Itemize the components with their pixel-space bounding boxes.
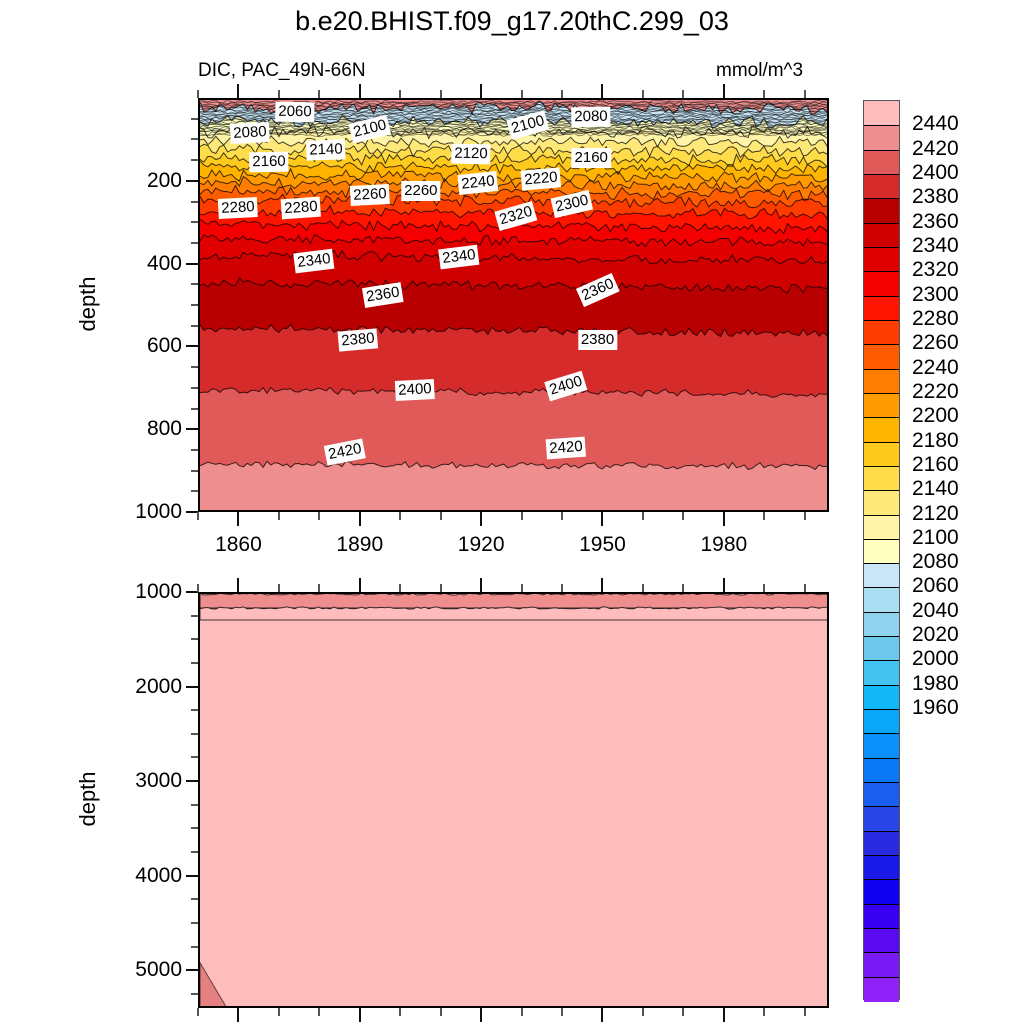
colorbar-divider	[864, 952, 899, 953]
x-axis-tick-lower-top	[480, 578, 482, 592]
x-axis-tick-upper	[480, 512, 482, 526]
colorbar-divider	[864, 198, 899, 199]
colorbar-divider	[864, 466, 899, 467]
x-axis-minor-tick-upper	[318, 512, 320, 520]
x-axis-tick-lower	[723, 1008, 725, 1022]
x-axis-minor-tick-lower-top	[197, 584, 199, 592]
upper-contour-fill	[200, 100, 827, 510]
x-axis-minor-tick-upper	[278, 512, 280, 520]
x-axis-minor-tick-lower	[278, 1008, 280, 1016]
x-axis-minor-tick-upper	[440, 512, 442, 520]
colorbar-divider	[864, 490, 899, 491]
colorbar-cell	[864, 393, 899, 418]
y-axis-tick-upper	[186, 263, 198, 265]
y-axis-tick-label-upper: 400	[90, 253, 182, 274]
contour-label: 2240	[457, 171, 498, 195]
y-axis-minor-tick-lower	[191, 733, 198, 735]
y-axis-minor-tick-upper	[191, 325, 198, 327]
x-axis-tick-lower-top	[601, 578, 603, 592]
x-axis-minor-tick-upper	[197, 512, 199, 520]
colorbar-divider	[864, 977, 899, 978]
y-axis-tick-upper	[186, 428, 198, 430]
y-axis-minor-tick-upper	[191, 221, 198, 223]
colorbar-cell	[864, 198, 899, 223]
y-axis-minor-tick-upper	[191, 138, 198, 140]
x-axis-minor-tick-lower-top	[642, 584, 644, 592]
colorbar-tick-label: 2200	[912, 405, 959, 426]
colorbar-tick-label: 1960	[912, 697, 959, 718]
y-axis-tick-lower	[186, 780, 198, 782]
colorbar-tick-label: 2220	[912, 381, 959, 402]
colorbar-divider	[864, 879, 899, 880]
x-axis-minor-tick-upper-top	[521, 90, 523, 98]
x-axis-minor-tick-upper	[763, 512, 765, 520]
y-axis-tick-upper	[186, 345, 198, 347]
colorbar-cell	[864, 612, 899, 637]
x-axis-tick-upper-top	[359, 84, 361, 98]
colorbar-tick-label: 1980	[912, 673, 959, 694]
colorbar-tick-label: 2280	[912, 308, 959, 329]
y-axis-tick-label-lower: 5000	[90, 959, 182, 980]
x-axis-minor-tick-upper-top	[561, 90, 563, 98]
y-axis-minor-tick-upper	[191, 159, 198, 161]
colorbar-divider	[864, 271, 899, 272]
colorbar-divider	[864, 539, 899, 540]
contour-label: 2260	[401, 181, 440, 201]
x-axis-minor-tick-upper	[804, 512, 806, 520]
colorbar-tick-label: 2420	[912, 138, 959, 159]
y-axis-tick-label-lower: 3000	[90, 770, 182, 791]
colorbar-cell	[864, 685, 899, 710]
y-axis-minor-tick-upper	[191, 490, 198, 492]
colorbar-tick-label: 2300	[912, 284, 959, 305]
y-axis-minor-tick-lower	[191, 756, 198, 758]
colorbar-cell	[864, 344, 899, 369]
y-axis-tick-label-upper: 200	[90, 170, 182, 191]
y-axis-minor-tick-upper	[191, 449, 198, 451]
x-axis-minor-tick-upper-top	[278, 90, 280, 98]
x-axis-minor-tick-lower	[440, 1008, 442, 1016]
contour-label: 2140	[306, 139, 346, 160]
colorbar-tick-label: 2360	[912, 211, 959, 232]
y-axis-minor-tick-lower	[191, 615, 198, 617]
x-axis-tick-label-upper: 1980	[664, 534, 784, 555]
units-label: mmol/m^3	[716, 60, 803, 82]
x-axis-minor-tick-lower-top	[318, 584, 320, 592]
colorbar-cell	[864, 709, 899, 734]
colorbar-divider	[864, 904, 899, 905]
colorbar-divider	[864, 660, 899, 661]
x-axis-tick-lower-top	[237, 578, 239, 592]
y-axis-minor-tick-lower	[191, 851, 198, 853]
x-axis-minor-tick-lower	[561, 1008, 563, 1016]
x-axis-minor-tick-lower	[197, 1008, 199, 1016]
x-axis-tick-label-upper: 1920	[421, 534, 541, 555]
y-axis-minor-tick-upper	[191, 304, 198, 306]
y-axis-tick-label-upper: 800	[90, 418, 182, 439]
colorbar-cell	[864, 733, 899, 758]
x-axis-tick-upper	[723, 512, 725, 526]
y-axis-tick-label-lower: 4000	[90, 865, 182, 886]
x-axis-minor-tick-upper-top	[682, 90, 684, 98]
y-axis-minor-tick-upper	[191, 118, 198, 120]
colorbar-divider	[864, 442, 899, 443]
colorbar-cell	[864, 904, 899, 929]
x-axis-minor-tick-upper-top	[642, 90, 644, 98]
contour-band	[200, 461, 829, 512]
colorbar-cell	[864, 247, 899, 272]
contour-label: 2080	[230, 122, 270, 144]
y-axis-minor-tick-lower	[191, 638, 198, 640]
colorbar-cell	[864, 369, 899, 394]
y-axis-tick-lower	[186, 875, 198, 877]
y-axis-tick-upper	[186, 180, 198, 182]
colorbar-cell	[864, 587, 899, 612]
y-axis-tick-lower	[186, 969, 198, 971]
colorbar-cell	[864, 150, 899, 175]
x-axis-minor-tick-upper	[682, 512, 684, 520]
x-axis-tick-upper	[237, 512, 239, 526]
y-axis-minor-tick-lower	[191, 946, 198, 948]
colorbar-cell	[864, 636, 899, 661]
colorbar-cell	[864, 320, 899, 345]
contour-label: 2380	[337, 328, 378, 351]
x-axis-tick-upper-top	[723, 84, 725, 98]
colorbar-cell	[864, 928, 899, 953]
colorbar-tick-label: 2140	[912, 478, 959, 499]
x-axis-minor-tick-upper	[521, 512, 523, 520]
y-axis-tick-label-lower: 1000	[90, 581, 182, 602]
colorbar-divider	[864, 296, 899, 297]
colorbar-cell	[864, 539, 899, 564]
x-axis-minor-tick-lower-top	[682, 584, 684, 592]
y-axis-tick-label-lower: 2000	[90, 676, 182, 697]
colorbar-cell	[864, 271, 899, 296]
colorbar-tick-label: 2160	[912, 454, 959, 475]
colorbar-cell	[864, 660, 899, 685]
colorbar-divider	[864, 758, 899, 759]
colorbar-divider	[864, 150, 899, 151]
x-axis-minor-tick-lower	[804, 1008, 806, 1016]
colorbar-cell	[864, 952, 899, 977]
contour-label: 2120	[451, 143, 491, 164]
colorbar-tick-label: 2040	[912, 600, 959, 621]
colorbar-cell	[864, 101, 899, 126]
contour-label: 2060	[275, 102, 315, 123]
upper-depth-section-plot[interactable]: 2080206021002120210020802160214021602220…	[198, 98, 829, 512]
colorbar-cell	[864, 831, 899, 856]
colorbar-divider	[864, 417, 899, 418]
colorbar-cell	[864, 296, 899, 321]
x-axis-minor-tick-lower	[682, 1008, 684, 1016]
bathymetry-mask	[200, 594, 829, 1008]
x-axis-minor-tick-upper-top	[804, 90, 806, 98]
y-axis-minor-tick-upper	[191, 201, 198, 203]
y-axis-tick-label-upper: 600	[90, 335, 182, 356]
x-axis-tick-label-upper: 1860	[178, 534, 298, 555]
colorbar-divider	[864, 125, 899, 126]
contour-label: 2160	[572, 148, 611, 168]
colorbar-divider	[864, 247, 899, 248]
y-axis-minor-tick-upper	[191, 387, 198, 389]
colorbar-tick-label: 2380	[912, 186, 959, 207]
x-axis-tick-upper-top	[237, 84, 239, 98]
x-axis-minor-tick-lower-top	[399, 584, 401, 592]
colorbar-tick-label: 2020	[912, 624, 959, 645]
x-axis-tick-upper	[359, 512, 361, 526]
colorbar-cell	[864, 563, 899, 588]
lower-depth-section-plot[interactable]	[198, 592, 829, 1008]
colorbar-cell	[864, 855, 899, 880]
colorbar-divider	[864, 515, 899, 516]
x-axis-minor-tick-upper	[642, 512, 644, 520]
colorbar-cell	[864, 806, 899, 831]
x-axis-minor-tick-lower	[763, 1008, 765, 1016]
y-axis-tick-label-upper: 1000	[90, 501, 182, 522]
colorbar-divider	[864, 733, 899, 734]
colorbar-cell	[864, 758, 899, 783]
contour-label: 2260	[350, 184, 390, 206]
colorbar-tick-label: 2400	[912, 162, 959, 183]
colorbar-divider	[864, 831, 899, 832]
colorbar-divider	[864, 685, 899, 686]
bathymetry-wedge	[200, 963, 228, 1008]
colorbar-divider	[864, 563, 899, 564]
x-axis-tick-label-upper: 1950	[542, 534, 662, 555]
x-axis-tick-lower	[601, 1008, 603, 1022]
x-axis-minor-tick-lower-top	[278, 584, 280, 592]
x-axis-tick-lower	[480, 1008, 482, 1022]
colorbar-cell	[864, 466, 899, 491]
colorbar-tick-label: 2320	[912, 259, 959, 280]
colorbar-cell	[864, 417, 899, 442]
contour-label: 2380	[578, 330, 617, 350]
x-axis-tick-upper-top	[601, 84, 603, 98]
x-axis-minor-tick-lower	[399, 1008, 401, 1016]
page-title: b.e20.BHIST.f09_g17.20thC.299_03	[0, 6, 1024, 37]
colorbar-cell	[864, 125, 899, 150]
colorbar-cell	[864, 490, 899, 515]
contour-line	[200, 512, 829, 513]
y-axis-minor-tick-upper	[191, 242, 198, 244]
colorbar-divider	[864, 587, 899, 588]
colorbar-cell	[864, 223, 899, 248]
contour-label: 2160	[250, 152, 290, 173]
x-axis-minor-tick-upper-top	[318, 90, 320, 98]
x-axis-tick-lower	[359, 1008, 361, 1022]
colorbar-divider	[864, 855, 899, 856]
y-axis-title-lower: depth	[75, 734, 101, 864]
colorbar-cell	[864, 879, 899, 904]
contour-label: 2280	[218, 197, 258, 219]
colorbar-divider	[864, 782, 899, 783]
x-axis-minor-tick-upper	[399, 512, 401, 520]
colorbar-tick-label: 2060	[912, 575, 959, 596]
x-axis-minor-tick-lower	[521, 1008, 523, 1016]
x-axis-minor-tick-lower-top	[521, 584, 523, 592]
plot-subtitle: DIC, PAC_49N-66N	[198, 60, 366, 82]
x-axis-minor-tick-lower	[318, 1008, 320, 1016]
y-axis-title-upper: depth	[75, 239, 101, 369]
colorbar-tick-label: 2120	[912, 503, 959, 524]
y-axis-minor-tick-upper	[191, 283, 198, 285]
colorbar-divider	[864, 928, 899, 929]
colorbar-tick-label: 2340	[912, 235, 959, 256]
colorbar-cell	[864, 977, 899, 1002]
colorbar-tick-label: 2080	[912, 551, 959, 572]
colorbar-tick-label: 2440	[912, 113, 959, 134]
colorbar-divider	[864, 636, 899, 637]
x-axis-minor-tick-lower-top	[804, 584, 806, 592]
contour-label: 2420	[546, 436, 587, 459]
x-axis-tick-upper-top	[480, 84, 482, 98]
y-axis-tick-lower	[186, 686, 198, 688]
x-axis-minor-tick-upper-top	[197, 90, 199, 98]
x-axis-minor-tick-upper-top	[763, 90, 765, 98]
colorbar-cell	[864, 442, 899, 467]
x-axis-minor-tick-upper	[561, 512, 563, 520]
x-axis-minor-tick-lower-top	[440, 584, 442, 592]
y-axis-minor-tick-upper	[191, 366, 198, 368]
colorbar-tick-label: 2000	[912, 648, 959, 669]
contour-label: 2220	[520, 167, 561, 190]
contour-label: 2400	[394, 379, 434, 401]
y-axis-minor-tick-lower	[191, 898, 198, 900]
contour-band	[200, 512, 829, 513]
x-axis-tick-lower-top	[723, 578, 725, 592]
contour-label: 2280	[281, 196, 322, 219]
y-axis-minor-tick-lower	[191, 922, 198, 924]
x-axis-minor-tick-lower	[642, 1008, 644, 1016]
contour-label: 2080	[571, 106, 611, 127]
y-axis-minor-tick-lower	[191, 804, 198, 806]
colorbar-divider	[864, 369, 899, 370]
colorbar-divider	[864, 393, 899, 394]
y-axis-minor-tick-lower	[191, 993, 198, 995]
x-axis-minor-tick-lower-top	[561, 584, 563, 592]
colorbar-divider	[864, 223, 899, 224]
colorbar-cell	[864, 782, 899, 807]
colorbar-divider	[864, 709, 899, 710]
x-axis-tick-upper	[601, 512, 603, 526]
upper-filled-contours	[200, 100, 829, 512]
colorbar-divider	[864, 806, 899, 807]
colorbar-tick-label: 2240	[912, 357, 959, 378]
colorbar-cell	[864, 515, 899, 540]
y-axis-minor-tick-lower	[191, 662, 198, 664]
colorbar-divider	[864, 612, 899, 613]
colorbar-divider	[864, 174, 899, 175]
y-axis-minor-tick-upper	[191, 408, 198, 410]
colorbar[interactable]	[863, 100, 900, 1000]
x-axis-tick-lower	[237, 1008, 239, 1022]
colorbar-tick-label: 2180	[912, 430, 959, 451]
y-axis-minor-tick-lower	[191, 827, 198, 829]
x-axis-tick-label-upper: 1890	[300, 534, 420, 555]
colorbar-tick-label: 2100	[912, 527, 959, 548]
x-axis-tick-lower-top	[359, 578, 361, 592]
y-axis-minor-tick-lower	[191, 709, 198, 711]
x-axis-minor-tick-lower-top	[763, 584, 765, 592]
colorbar-divider	[864, 344, 899, 345]
y-axis-minor-tick-upper	[191, 470, 198, 472]
x-axis-minor-tick-upper-top	[399, 90, 401, 98]
colorbar-tick-label: 2260	[912, 332, 959, 353]
x-axis-minor-tick-upper-top	[440, 90, 442, 98]
colorbar-divider	[864, 320, 899, 321]
colorbar-cell	[864, 174, 899, 199]
